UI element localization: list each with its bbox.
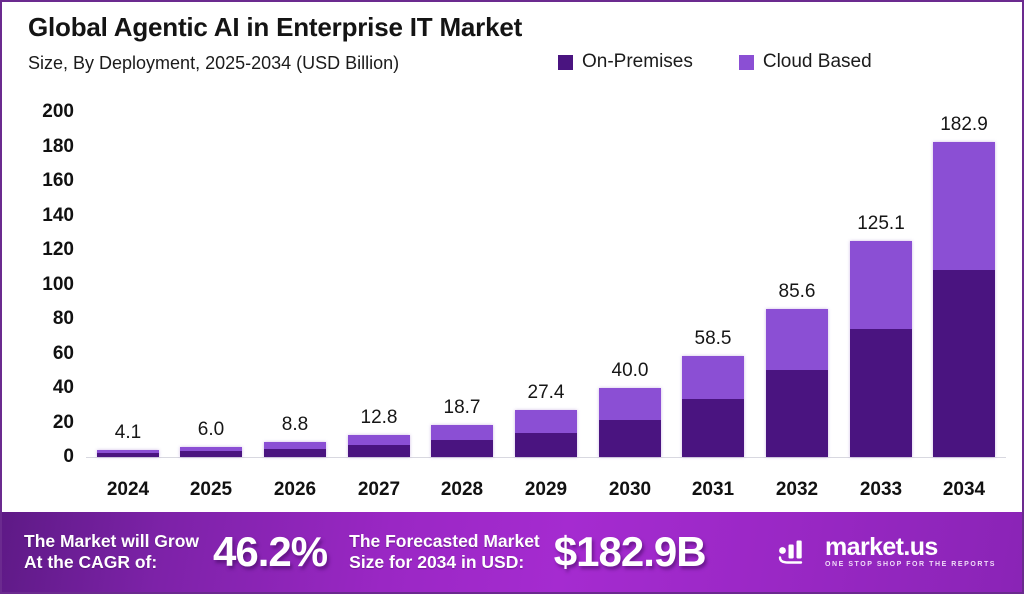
bar-value-label: 125.1 [834,213,928,235]
bar-segment-on-premises[interactable] [850,329,912,457]
stat-cagr-caption-line2: At the CAGR of: [24,552,199,573]
x-axis-tick-label: 2031 [666,479,760,501]
y-axis-tick-label: 20 [16,412,74,434]
legend-item-cloud-based[interactable]: Cloud Based [739,51,872,73]
chart-header: Global Agentic AI in Enterprise IT Marke… [2,2,1024,94]
brand-logo[interactable]: market.us ONE STOP SHOP FOR THE REPORTS [776,534,1008,570]
bar-stack[interactable] [515,410,577,457]
bar-stack[interactable] [348,435,410,457]
bar-stack[interactable] [599,388,661,457]
subtitle-row: Size, By Deployment, 2025-2034 (USD Bill… [28,51,1006,79]
bar-stack[interactable] [431,425,493,457]
stat-forecast-caption: The Forecasted Market Size for 2034 in U… [349,531,540,573]
bar-value-label: 6.0 [164,419,258,441]
y-axis: 020406080100120140160180200 [12,94,74,512]
y-axis-tick-label: 200 [16,101,74,123]
stat-forecast-size: The Forecasted Market Size for 2034 in U… [349,528,705,576]
bar-segment-cloud-based[interactable] [515,410,577,433]
x-axis-tick-label: 2028 [415,479,509,501]
legend-item-on-premises[interactable]: On-Premises [558,51,693,73]
bar-value-label: 8.8 [248,414,342,436]
chart-figure: Global Agentic AI in Enterprise IT Marke… [0,0,1024,594]
bar-segment-cloud-based[interactable] [348,435,410,446]
bar-segment-on-premises[interactable] [348,445,410,457]
bar-stack[interactable] [682,356,744,457]
square-swatch-icon [558,55,573,70]
y-axis-tick-label: 40 [16,377,74,399]
y-axis-tick-label: 160 [16,170,74,192]
stat-cagr-caption: The Market will Grow At the CAGR of: [24,531,199,573]
bar-segment-on-premises[interactable] [515,433,577,457]
bar-segment-cloud-based[interactable] [766,309,828,370]
y-axis-tick-label: 60 [16,343,74,365]
logo-text: market.us ONE STOP SHOP FOR THE REPORTS [825,534,996,570]
bar-segment-on-premises[interactable] [431,440,493,457]
bar-segment-on-premises[interactable] [599,420,661,457]
bar-stack[interactable] [766,309,828,457]
bar-stack[interactable] [933,142,995,458]
plot-area: 020406080100120140160180200 4.120246.020… [2,94,1024,512]
x-axis-tick-label: 2032 [750,479,844,501]
bars-container: 4.120246.020258.8202612.8202718.7202827.… [86,94,1016,512]
page-title: Global Agentic AI in Enterprise IT Marke… [28,12,1006,42]
stat-cagr-value: 46.2% [213,528,327,576]
bar-stack[interactable] [850,241,912,457]
x-axis-tick-label: 2029 [499,479,593,501]
bar-segment-on-premises[interactable] [933,270,995,457]
x-axis-tick-label: 2026 [248,479,342,501]
stat-forecast-value: $182.9B [554,528,706,576]
bar-value-label: 58.5 [666,328,760,350]
bar-segment-on-premises[interactable] [264,449,326,457]
y-axis-tick-label: 80 [16,308,74,330]
x-axis-tick-label: 2025 [164,479,258,501]
stat-cagr-caption-line1: The Market will Grow [24,531,199,552]
y-axis-tick-label: 100 [16,274,74,296]
square-swatch-icon [739,55,754,70]
chart-subtitle: Size, By Deployment, 2025-2034 (USD Bill… [28,53,399,74]
bar-segment-cloud-based[interactable] [933,142,995,270]
bar-value-label: 18.7 [415,397,509,419]
bar-value-label: 4.1 [81,422,175,444]
x-axis-tick-label: 2034 [917,479,1011,501]
bar-value-label: 12.8 [332,407,426,429]
bar-value-label: 27.4 [499,382,593,404]
bar-segment-on-premises[interactable] [682,399,744,457]
stat-forecast-caption-line1: The Forecasted Market [349,531,540,552]
bar-stack[interactable] [264,442,326,457]
logo-wordmark: market.us [825,534,996,560]
x-axis-tick-label: 2033 [834,479,928,501]
bar-segment-cloud-based[interactable] [599,388,661,420]
bar-segment-cloud-based[interactable] [431,425,493,441]
bar-value-label: 85.6 [750,281,844,303]
stat-forecast-caption-line2: Size for 2034 in USD: [349,552,540,573]
bar-value-label: 40.0 [583,360,677,382]
y-axis-tick-label: 0 [16,446,74,468]
x-axis-tick-label: 2027 [332,479,426,501]
bar-segment-cloud-based[interactable] [682,356,744,398]
y-axis-tick-label: 140 [16,205,74,227]
bar-segment-on-premises[interactable] [180,451,242,457]
bar-segment-on-premises[interactable] [97,453,159,457]
y-axis-tick-label: 120 [16,239,74,261]
bar-stack[interactable] [97,450,159,457]
bar-segment-on-premises[interactable] [766,370,828,457]
y-axis-tick-label: 180 [16,136,74,158]
legend-label-on-premises: On-Premises [582,51,693,73]
logo-tagline: ONE STOP SHOP FOR THE REPORTS [825,560,996,570]
legend-label-cloud-based: Cloud Based [763,51,872,73]
bar-stack[interactable] [180,447,242,457]
stat-cagr: The Market will Grow At the CAGR of: 46.… [24,528,327,576]
bar-segment-cloud-based[interactable] [850,241,912,329]
bar-segment-cloud-based[interactable] [264,442,326,449]
chart-legend: On-Premises Cloud Based [558,51,872,73]
bar-value-label: 182.9 [917,114,1011,136]
x-axis-tick-label: 2030 [583,479,677,501]
market-us-logo-icon [776,537,816,567]
x-axis-tick-label: 2024 [81,479,175,501]
footer-banner: The Market will Grow At the CAGR of: 46.… [2,512,1022,592]
